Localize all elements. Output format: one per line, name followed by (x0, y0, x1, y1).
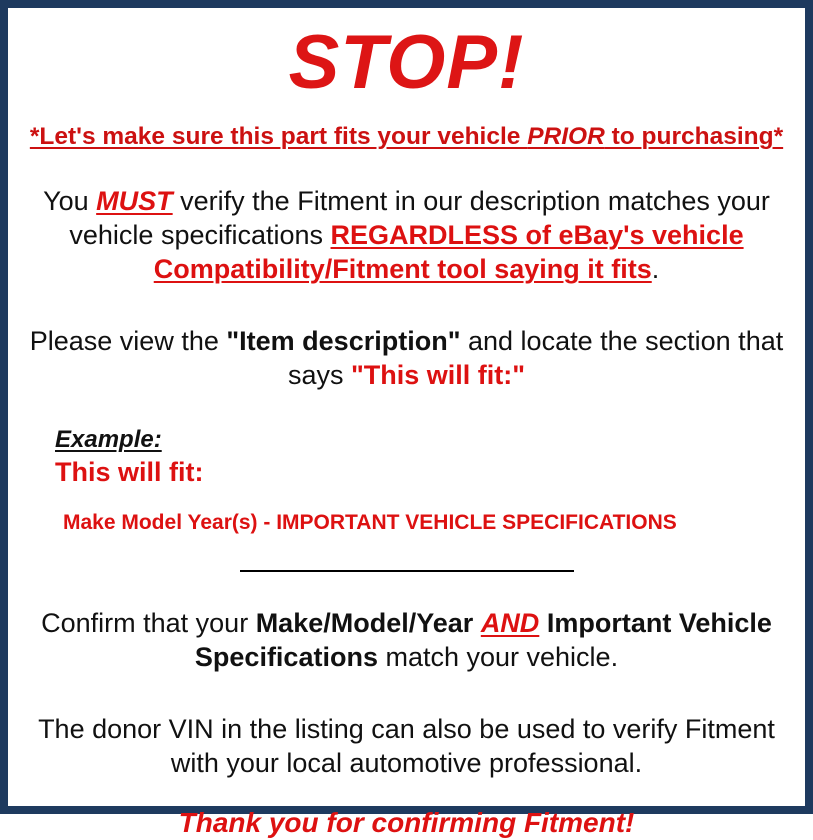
banner-emphasis: PRIOR (527, 123, 605, 150)
confirm-seg-1: Confirm that your (41, 608, 256, 638)
donor-vin-paragraph: The donor VIN in the listing can also be… (20, 712, 793, 780)
item-description-label: "Item description" (226, 326, 460, 356)
notice-content: STOP! *Let's make sure this part fits yo… (8, 20, 805, 818)
banner-prefix: *Let's make sure this part fits your veh… (30, 123, 527, 150)
fitment-banner: *Let's make sure this part fits your veh… (20, 122, 793, 152)
example-spec-line: Make Model Year(s) - IMPORTANT VEHICLE S… (55, 510, 793, 536)
must-seg-1: You (43, 186, 96, 216)
page-title: STOP! (20, 20, 793, 106)
item-desc-seg-1: Please view the (30, 326, 227, 356)
confirm-paragraph: Confirm that your Make/Model/Year AND Im… (20, 606, 793, 674)
example-block: Example: This will fit: Make Model Year(… (20, 426, 793, 536)
must-seg-3: . (652, 254, 660, 284)
must-verify-paragraph: You MUST verify the Fitment in our descr… (20, 184, 793, 286)
section-divider (240, 570, 574, 572)
must-emphasis: MUST (96, 186, 173, 216)
this-will-fit-quote: "This will fit:" (351, 360, 525, 390)
thank-you-line: Thank you for confirming Fitment! (20, 806, 793, 840)
fitment-notice-card: STOP! *Let's make sure this part fits yo… (0, 0, 813, 814)
banner-suffix: to purchasing* (605, 123, 783, 150)
and-emphasis: AND (481, 608, 540, 638)
example-label-row: Example: (55, 426, 793, 454)
confirm-seg-2: match your vehicle. (378, 642, 618, 672)
example-label: Example: (55, 426, 162, 454)
example-fit-heading: This will fit: (55, 456, 793, 488)
item-description-paragraph: Please view the "Item description" and l… (20, 324, 793, 392)
make-model-year-emphasis: Make/Model/Year (256, 608, 474, 638)
section-divider-wrap (20, 562, 793, 580)
